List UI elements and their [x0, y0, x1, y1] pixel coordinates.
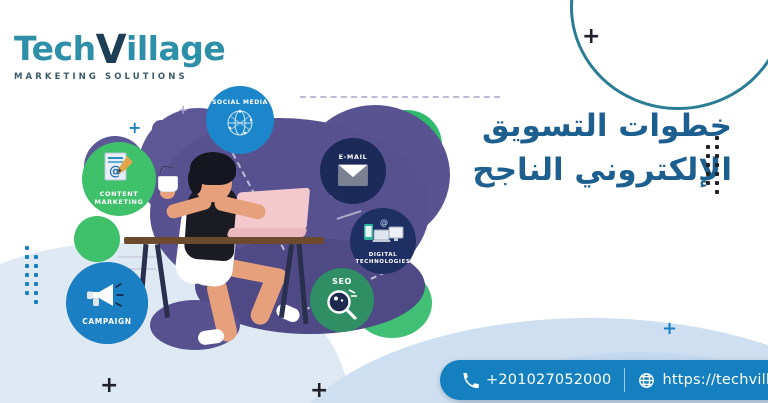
- globe-icon: [638, 372, 655, 389]
- phone-number: +201027052000: [486, 372, 611, 388]
- badge-content-marketing-label-2: MARKETING: [94, 198, 143, 206]
- badge-digital-technologies-label-2: TECHNOLOGIES: [356, 259, 411, 265]
- envelope-icon: [338, 164, 368, 189]
- website-group[interactable]: https://techvillageeg.com: [638, 372, 768, 389]
- decorative-plus-icon: +: [178, 104, 188, 116]
- badge-email[interactable]: E-MAIL: [320, 138, 386, 204]
- motion-line: [118, 256, 162, 258]
- logo-text-illage: illage: [126, 29, 225, 68]
- connector-line: [300, 96, 500, 98]
- badge-digital-technologies-label-1: DIGITAL: [369, 252, 397, 258]
- decorative-plus-icon: +: [310, 380, 328, 402]
- headline-line-2: الإلكتروني الناجح: [402, 148, 732, 192]
- badge-content-marketing[interactable]: @ CONTENT MARKETING: [82, 142, 156, 216]
- globe-network-icon: [225, 108, 255, 141]
- svg-text:@: @: [380, 218, 388, 227]
- website-url: https://techvillageeg.com: [662, 372, 768, 388]
- devices-icon: @: [362, 217, 404, 250]
- laptop-base: [227, 228, 308, 237]
- badge-content-marketing-label-1: CONTENT: [100, 190, 139, 198]
- magnifier-icon: [325, 288, 359, 323]
- marketing-banner: SOCIAL MEDIA E-MAIL: [0, 0, 768, 403]
- document-pencil-icon: @: [101, 152, 137, 187]
- decorative-plus-icon: +: [662, 320, 677, 338]
- megaphone-icon: [85, 280, 129, 313]
- phone-icon: [462, 372, 479, 389]
- decorative-plus-icon: +: [100, 375, 118, 397]
- logo-wordmark: TechVillage: [14, 27, 194, 67]
- badge-social-media-label: SOCIAL MEDIA: [212, 99, 268, 107]
- badge-seo-label: SEO: [332, 277, 352, 287]
- badge-digital-technologies[interactable]: @ DIGITAL TECHNOLOGIES: [350, 208, 416, 274]
- logo-tagline: MARKETING SOLUTIONS: [14, 72, 194, 82]
- decorative-plus-icon: +: [582, 26, 600, 48]
- brand-logo[interactable]: TechVillage MARKETING SOLUTIONS: [14, 27, 194, 82]
- decorative-arc-icon: [570, 0, 768, 110]
- badge-campaign[interactable]: CAMPAIGN: [66, 262, 148, 344]
- headline: خطوات التسويق الإلكتروني الناجح: [402, 104, 732, 192]
- dot-grid-left: [25, 246, 38, 304]
- coffee-cup-icon: [158, 176, 178, 192]
- steam-icon: [159, 165, 174, 178]
- badge-campaign-label: CAMPAIGN: [82, 317, 131, 326]
- headline-line-1: خطوات التسويق: [402, 104, 732, 148]
- logo-text-tech: Tech: [14, 29, 96, 68]
- badge-seo[interactable]: SEO: [310, 268, 374, 332]
- logo-letter-v: V: [96, 27, 126, 73]
- badge-email-label: E-MAIL: [339, 153, 368, 161]
- decorative-blob: [74, 216, 120, 262]
- decorative-plus-icon: +: [128, 120, 141, 136]
- person-hair: [188, 168, 202, 194]
- badge-social-media[interactable]: SOCIAL MEDIA: [206, 86, 274, 154]
- contact-bar: +201027052000 https://techvillageeg.com: [440, 360, 768, 400]
- phone-group[interactable]: +201027052000: [462, 372, 611, 389]
- contact-divider: [624, 368, 625, 392]
- desk: [124, 237, 324, 244]
- dot-grid-right: [706, 136, 719, 194]
